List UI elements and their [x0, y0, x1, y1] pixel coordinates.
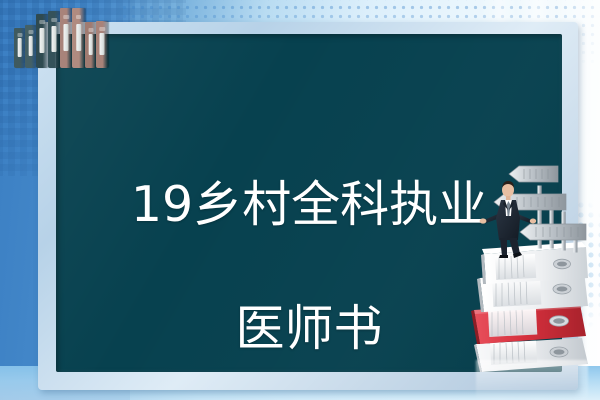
binder-row-top-left: [14, 6, 109, 68]
binder-2: [25, 25, 36, 68]
binder-ring: [63, 15, 69, 19]
binder-ring: [28, 30, 33, 34]
binder-label: [63, 24, 68, 52]
binder-label: [99, 33, 104, 55]
binder-8: [96, 21, 108, 68]
binder-label: [88, 34, 93, 55]
binder-4: [48, 11, 60, 68]
binder-5: [60, 8, 72, 68]
binder-label: [28, 36, 33, 56]
binder-ring: [76, 15, 82, 19]
binder-ring: [17, 33, 22, 37]
binder-white-top: [481, 242, 588, 284]
binder-7: [85, 22, 96, 68]
binder-3: [36, 14, 48, 68]
binder-stack-illustration: [462, 158, 600, 400]
binder-1: [14, 28, 25, 68]
binder-6: [72, 8, 85, 68]
poster-canvas: 19乡村全科执业 医师书: [0, 0, 600, 400]
binder-ring: [99, 27, 105, 31]
binder-label: [39, 28, 44, 53]
binder-ring: [88, 28, 93, 32]
signpost-arrow-bottom: [520, 224, 586, 240]
signpost-arrow-top: [509, 166, 558, 182]
binder-label: [51, 26, 56, 52]
binder-label: [76, 24, 81, 52]
binder-label: [17, 38, 22, 56]
binder-ring: [39, 20, 45, 24]
binder-ring: [51, 18, 57, 22]
